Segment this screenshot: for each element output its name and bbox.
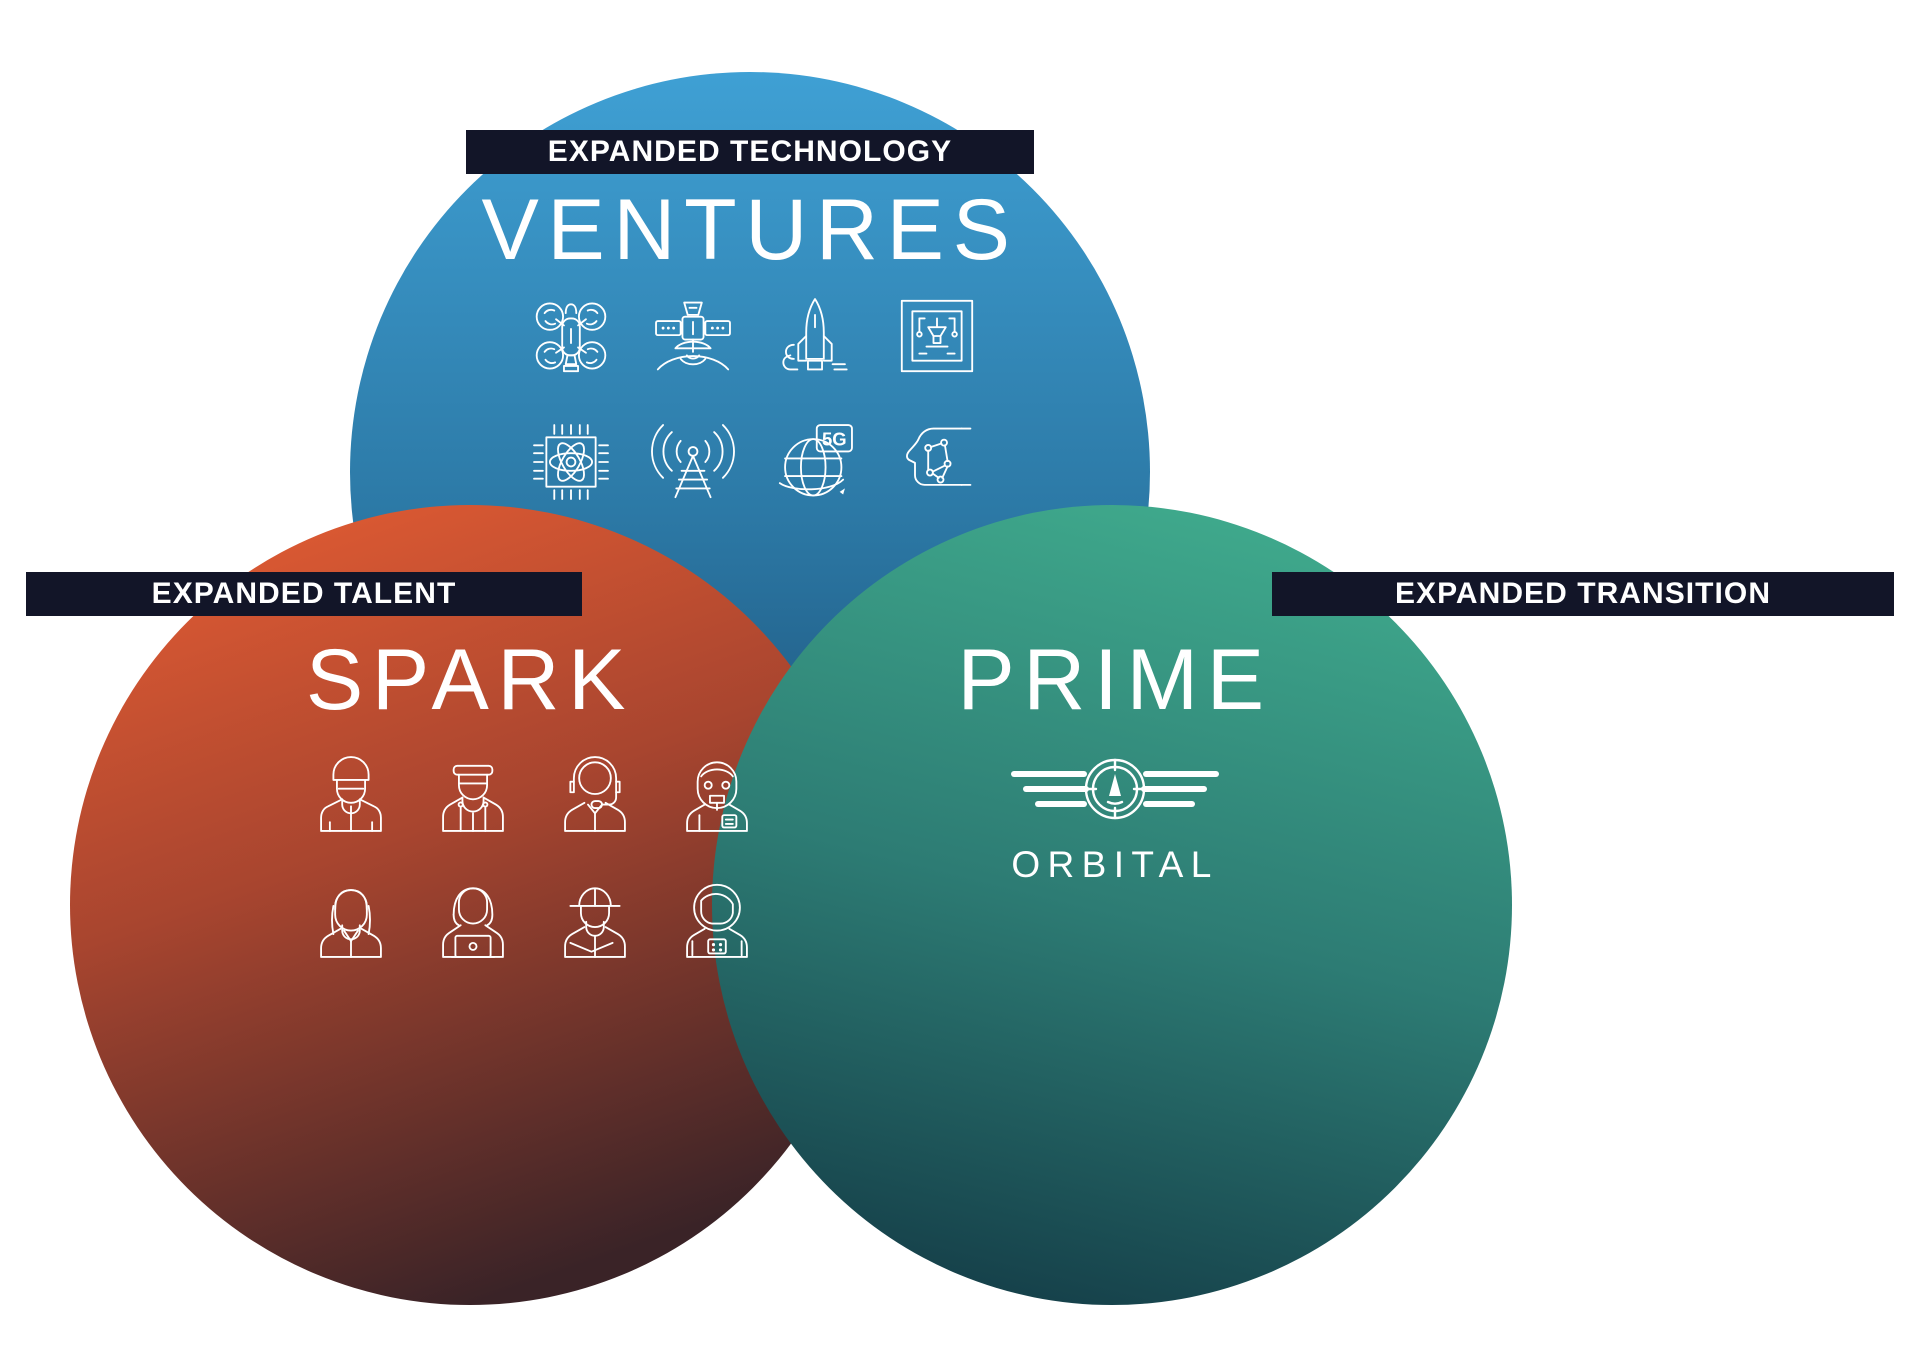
banner-expanded-talent: EXPANDED TALENT [26,572,582,616]
wordmark-prime: PRIME [900,635,1330,725]
satellite-icon [637,277,749,395]
spark-icon-grid [295,735,773,979]
astronaut-icon [661,861,773,979]
microchip-circuit-icon [881,277,993,395]
construction-worker-icon [539,861,651,979]
pilot-icon [661,735,773,853]
technician-icon [417,735,529,853]
drone-icon [515,277,627,395]
rocket-launch-icon [759,277,871,395]
orbital-wordmark: ORBITAL [1011,844,1218,886]
orbital-logo: ORBITAL [975,740,1255,895]
ai-brain-icon [881,403,993,521]
banner-expanded-transition: EXPANDED TRANSITION [1272,572,1894,616]
circle-prime [712,505,1512,1305]
globe-5g-icon: 5G [759,403,871,521]
banner-expanded-technology: EXPANDED TECHNOLOGY [466,130,1034,174]
svg-text:5G: 5G [822,428,847,449]
orbital-wings-logo [1000,740,1230,838]
wordmark-ventures: VENTURES [455,185,1045,275]
antenna-tower-icon [637,403,749,521]
engineer-woman-icon [295,861,407,979]
ventures-icon-grid: 5G [515,277,993,521]
quantum-chip-icon [515,403,627,521]
developer-icon [417,861,529,979]
scientist-icon [295,735,407,853]
support-agent-icon [539,735,651,853]
venn-diagram: VENTURES SPARK PRIME [0,0,1920,1369]
wordmark-spark: SPARK [245,635,695,725]
